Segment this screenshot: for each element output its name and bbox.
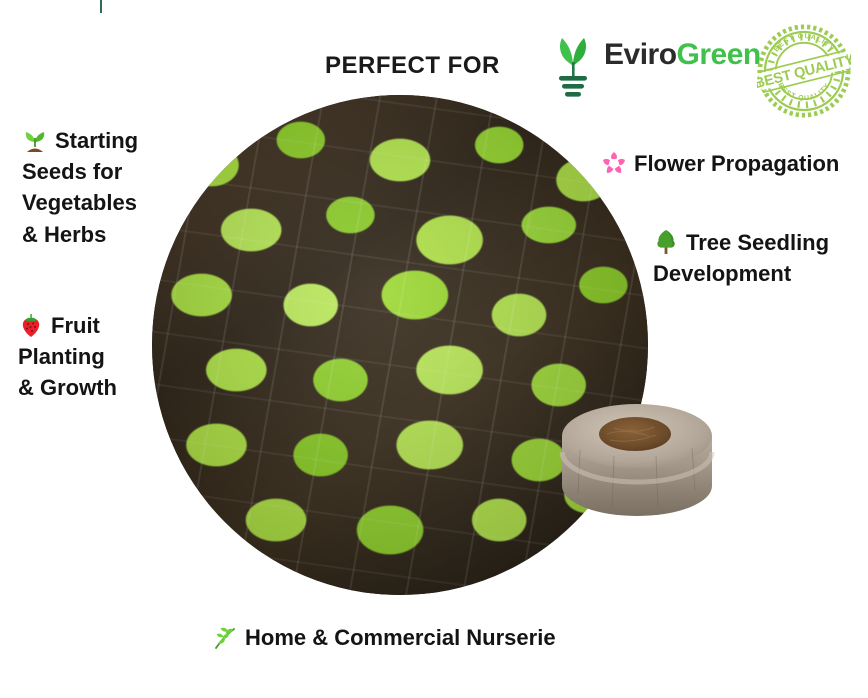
strawberry-icon: [18, 312, 44, 338]
seedling-icon: [22, 127, 48, 153]
feature-flower-propagation: Flower Propagation: [601, 148, 863, 179]
tree-icon: [653, 229, 679, 255]
cherry-blossom-icon: [601, 150, 627, 176]
coco-coir-pellet-photo: [552, 390, 722, 550]
stray-mark: [100, 0, 102, 13]
feature-line: Home & Commercial Nurserie: [245, 625, 556, 650]
feature-line: Vegetables: [22, 190, 137, 215]
page-title: PERFECT FOR: [325, 52, 500, 80]
feature-line: Tree Seedling: [686, 230, 829, 255]
feature-line: Seeds for: [22, 159, 122, 184]
feature-line: Flower Propagation: [634, 151, 839, 176]
brand-word-part1: Eviro: [604, 38, 677, 71]
feature-line: Starting: [55, 128, 138, 153]
brand-logo: EviroGreen: [548, 26, 761, 98]
feature-line: & Herbs: [22, 222, 106, 247]
feature-home-commercial-nurserie: Home & Commercial Nurserie: [212, 622, 612, 653]
feature-starting-seeds: Starting Seeds for Vegetables & Herbs: [22, 125, 202, 250]
feature-line: Planting: [18, 344, 105, 369]
feature-line: Fruit: [51, 313, 100, 338]
feature-line: & Growth: [18, 375, 117, 400]
brand-word-part2: Green: [677, 38, 761, 71]
feature-tree-seedling: Tree Seedling Development: [653, 227, 863, 289]
feature-line: Development: [653, 261, 791, 286]
stamp-main-text: BEST QUALITY: [757, 52, 851, 92]
feature-fruit-planting: Fruit Planting & Growth: [18, 310, 178, 404]
brand-wordmark: EviroGreen: [604, 40, 761, 70]
promo-graphic: PERFECT FOR EviroGreen: [0, 0, 868, 698]
sprout-lightbulb-icon: [548, 26, 598, 98]
best-quality-stamp-icon: BEST QUALITY BEST QUALITY BEST QUALITY: [757, 24, 851, 118]
herb-leaf-icon: [212, 624, 238, 650]
